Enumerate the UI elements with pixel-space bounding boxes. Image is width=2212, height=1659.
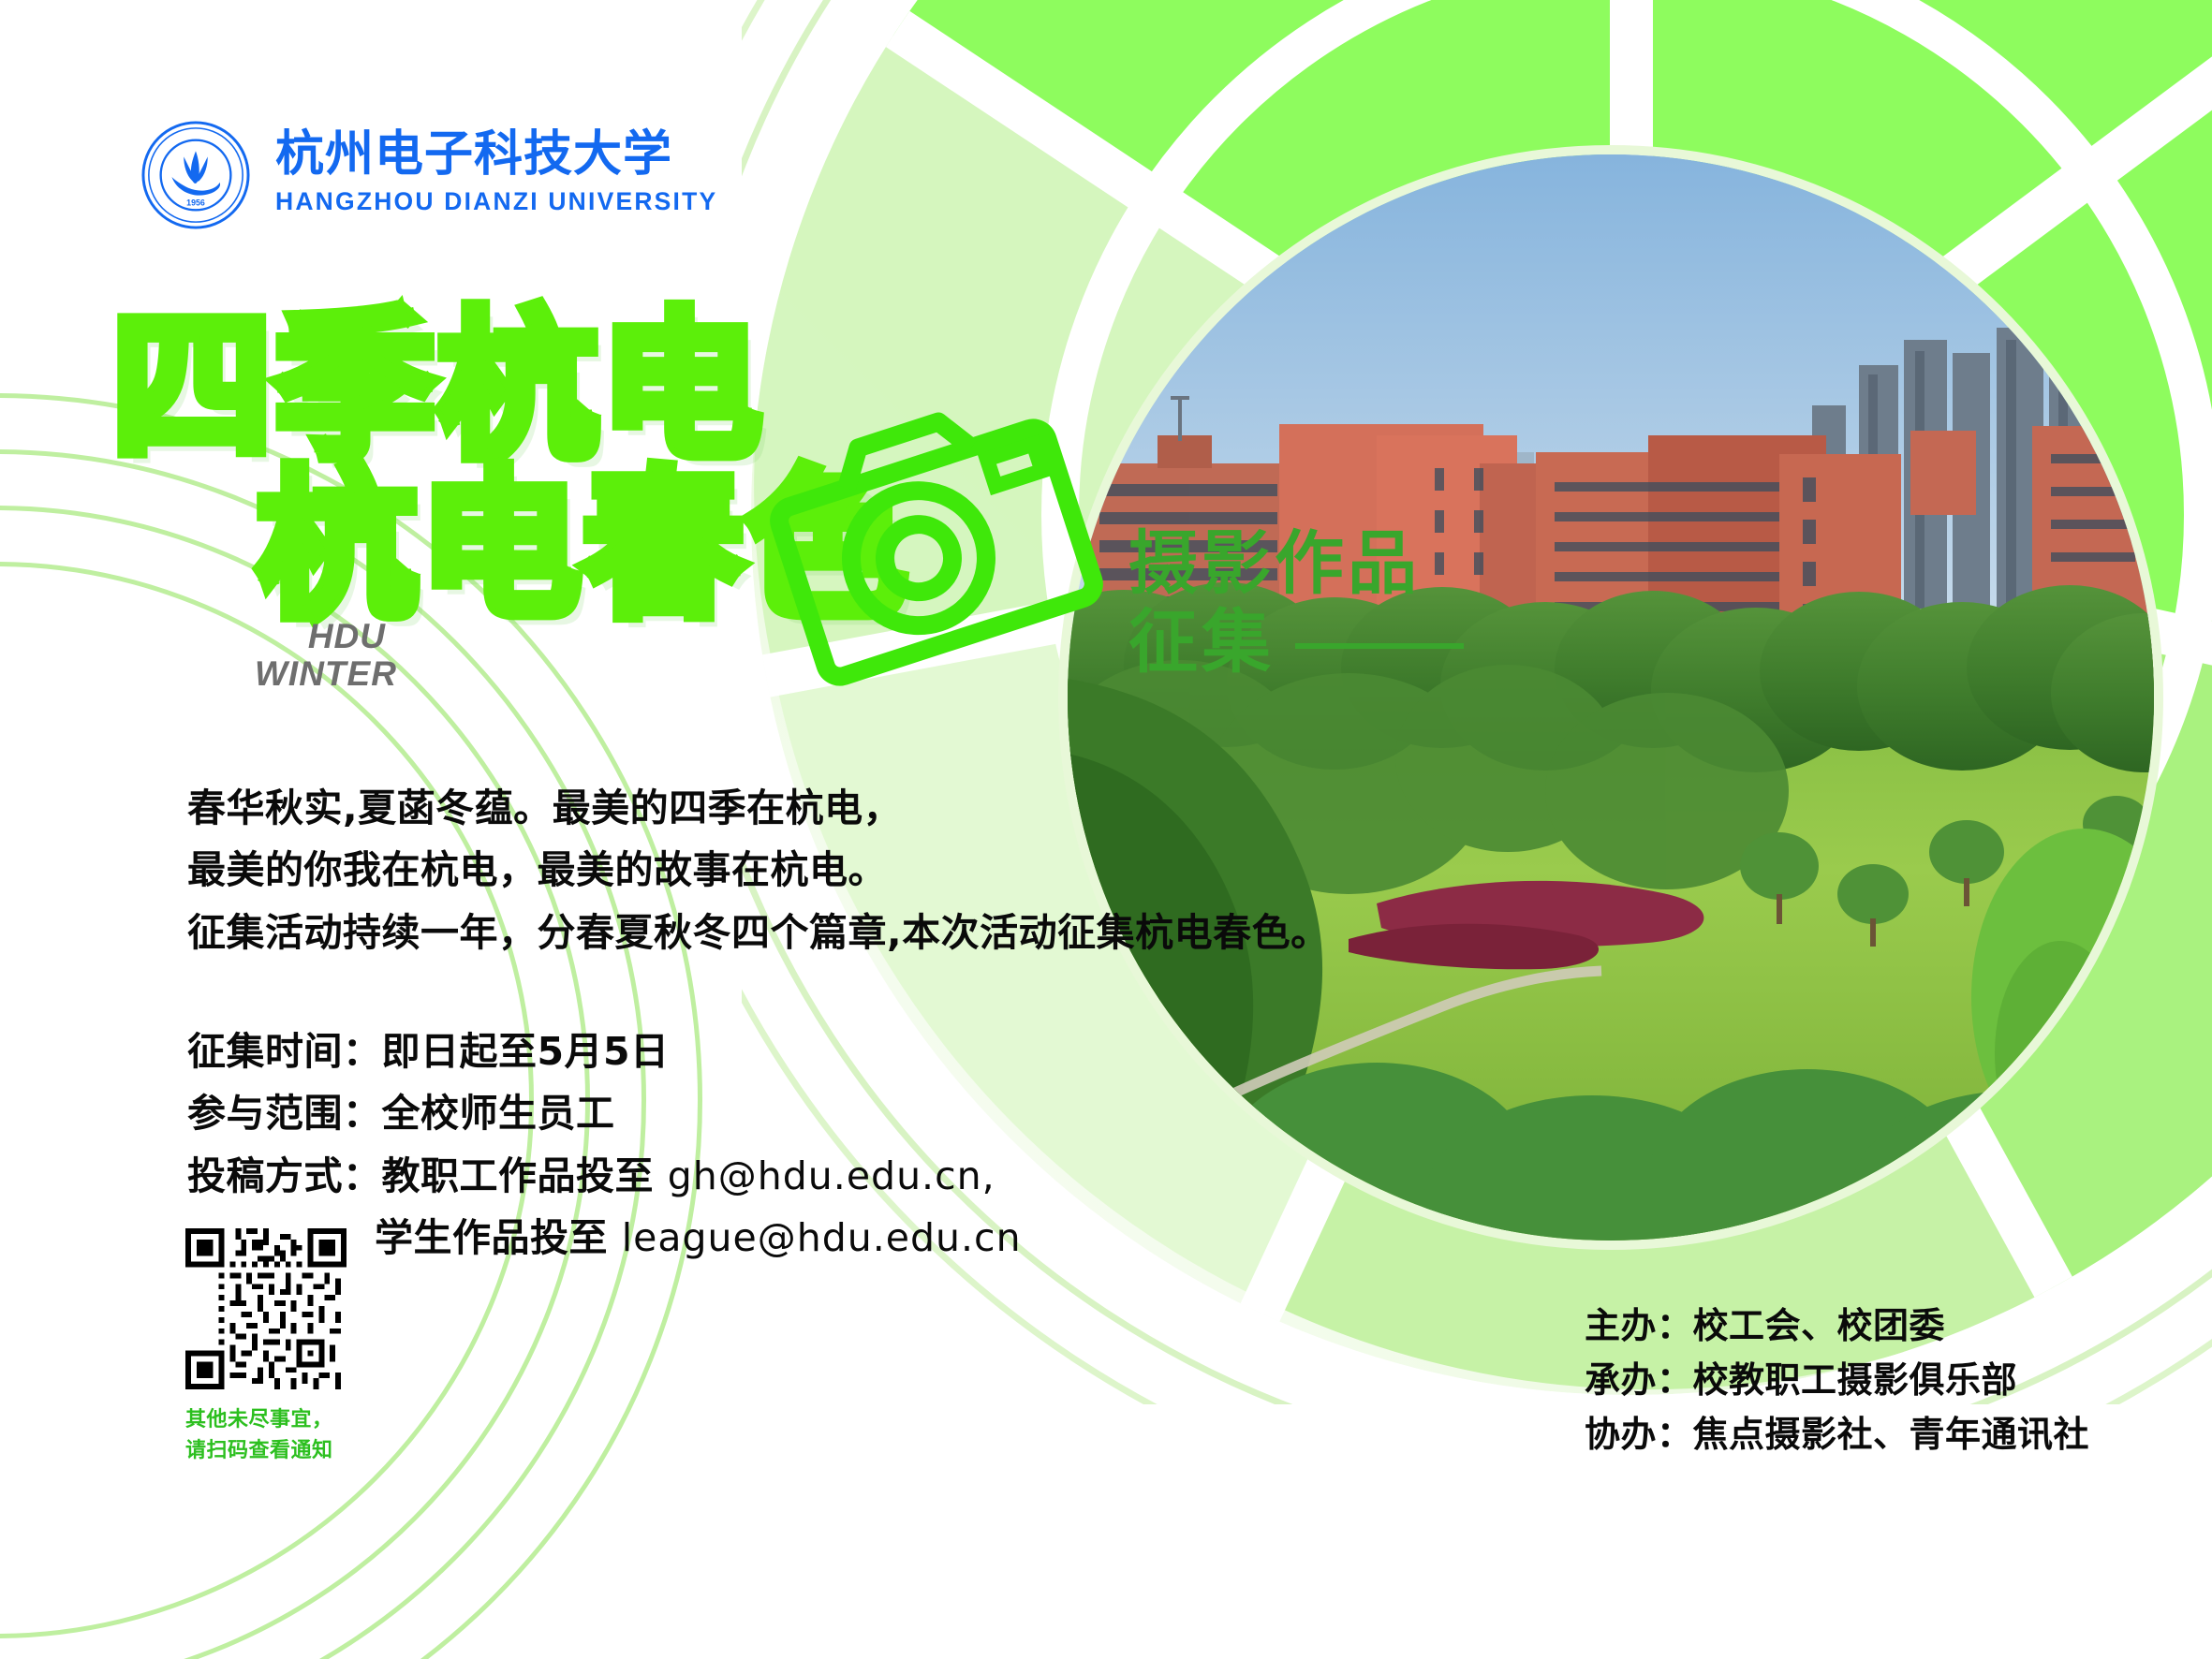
student-email[interactable]: league@hdu.edu.cn [622,1215,1022,1260]
svg-text:1956: 1956 [186,198,205,207]
event-details: 征集时间：即日起至5月5日 参与范围：全校师生员工 投稿方式：教职工作品投至 g… [187,1020,1311,1270]
detail-time-label: 征集时间： [187,1029,382,1074]
university-logo: 1956 杭州电子科技大学 HANGZHOU DIANZI UNIVERSITY [140,120,717,230]
detail-submit-staff-text: 教职工作品投至 [382,1153,668,1198]
detail-scope-label: 参与范围： [187,1091,382,1136]
intro-line-1: 春华秋实,夏菡冬蕴。最美的四季在杭电， [187,777,1442,839]
subtitle: 摄影作品 征集 [1128,524,1464,683]
subtitle-line-1: 摄影作品 [1128,524,1464,603]
qr-note-line2: 请扫码查看通知 [185,1435,347,1466]
season-label: HDU WINTER [255,618,386,693]
organizer-coorganizer: 协办：焦点摄影社、青年通讯社 [1585,1408,2089,1462]
detail-submit-staff: 投稿方式：教职工作品投至 gh@hdu.edu.cn, [187,1145,1311,1207]
staff-email[interactable]: gh@hdu.edu.cn, [668,1153,995,1198]
detail-submit-label: 投稿方式： [187,1153,382,1198]
detail-submit-student-text: 学生作品投至 [375,1215,622,1260]
detail-scope: 参与范围：全校师生员工 [187,1082,1311,1144]
organizer-organizer: 承办：校教职工摄影俱乐部 [1585,1354,2089,1408]
detail-submit-student: 学生作品投至 league@hdu.edu.cn [187,1207,1311,1269]
qr-block: 其他未尽事宜， 请扫码查看通知 [185,1228,347,1466]
season-label-line1: HDU [255,618,386,655]
subtitle-line-2: 征集 [1128,603,1275,682]
svg-text:杭州电子科技大学: 杭州电子科技大学 [275,125,672,182]
university-name-cn-calligraphy: 杭州电子科技大学 [275,124,687,182]
qr-note: 其他未尽事宜， 请扫码查看通知 [185,1404,347,1466]
poster-canvas: 1956 杭州电子科技大学 HANGZHOU DIANZI UNIVERSITY… [0,0,2212,1659]
intro-line-3: 征集活动持续一年，分春夏秋冬四个篇章,本次活动征集杭电春色。 [187,902,1442,963]
detail-time-value: 即日起至5月5日 [382,1029,670,1074]
qr-code-icon[interactable] [185,1228,347,1389]
detail-time: 征集时间：即日起至5月5日 [187,1020,1311,1082]
qr-note-line1: 其他未尽事宜， [185,1404,347,1435]
intro-line-2: 最美的你我在杭电，最美的故事在杭电。 [187,839,1442,901]
organizer-host: 主办：校工会、校团委 [1585,1299,2089,1354]
hdu-seal-icon: 1956 [140,120,251,230]
organizers-block: 主办：校工会、校团委 承办：校教职工摄影俱乐部 协办：焦点摄影社、青年通讯社 [1585,1299,2089,1461]
detail-scope-value: 全校师生员工 [382,1091,615,1136]
intro-paragraph: 春华秋实,夏菡冬蕴。最美的四季在杭电， 最美的你我在杭电，最美的故事在杭电。 征… [187,777,1442,963]
subtitle-rule [1295,643,1464,649]
season-label-line2: WINTER [255,655,386,693]
university-name-en: HANGZHOU DIANZI UNIVERSITY [275,187,717,216]
title-line-1: 四季杭电 [112,295,764,480]
